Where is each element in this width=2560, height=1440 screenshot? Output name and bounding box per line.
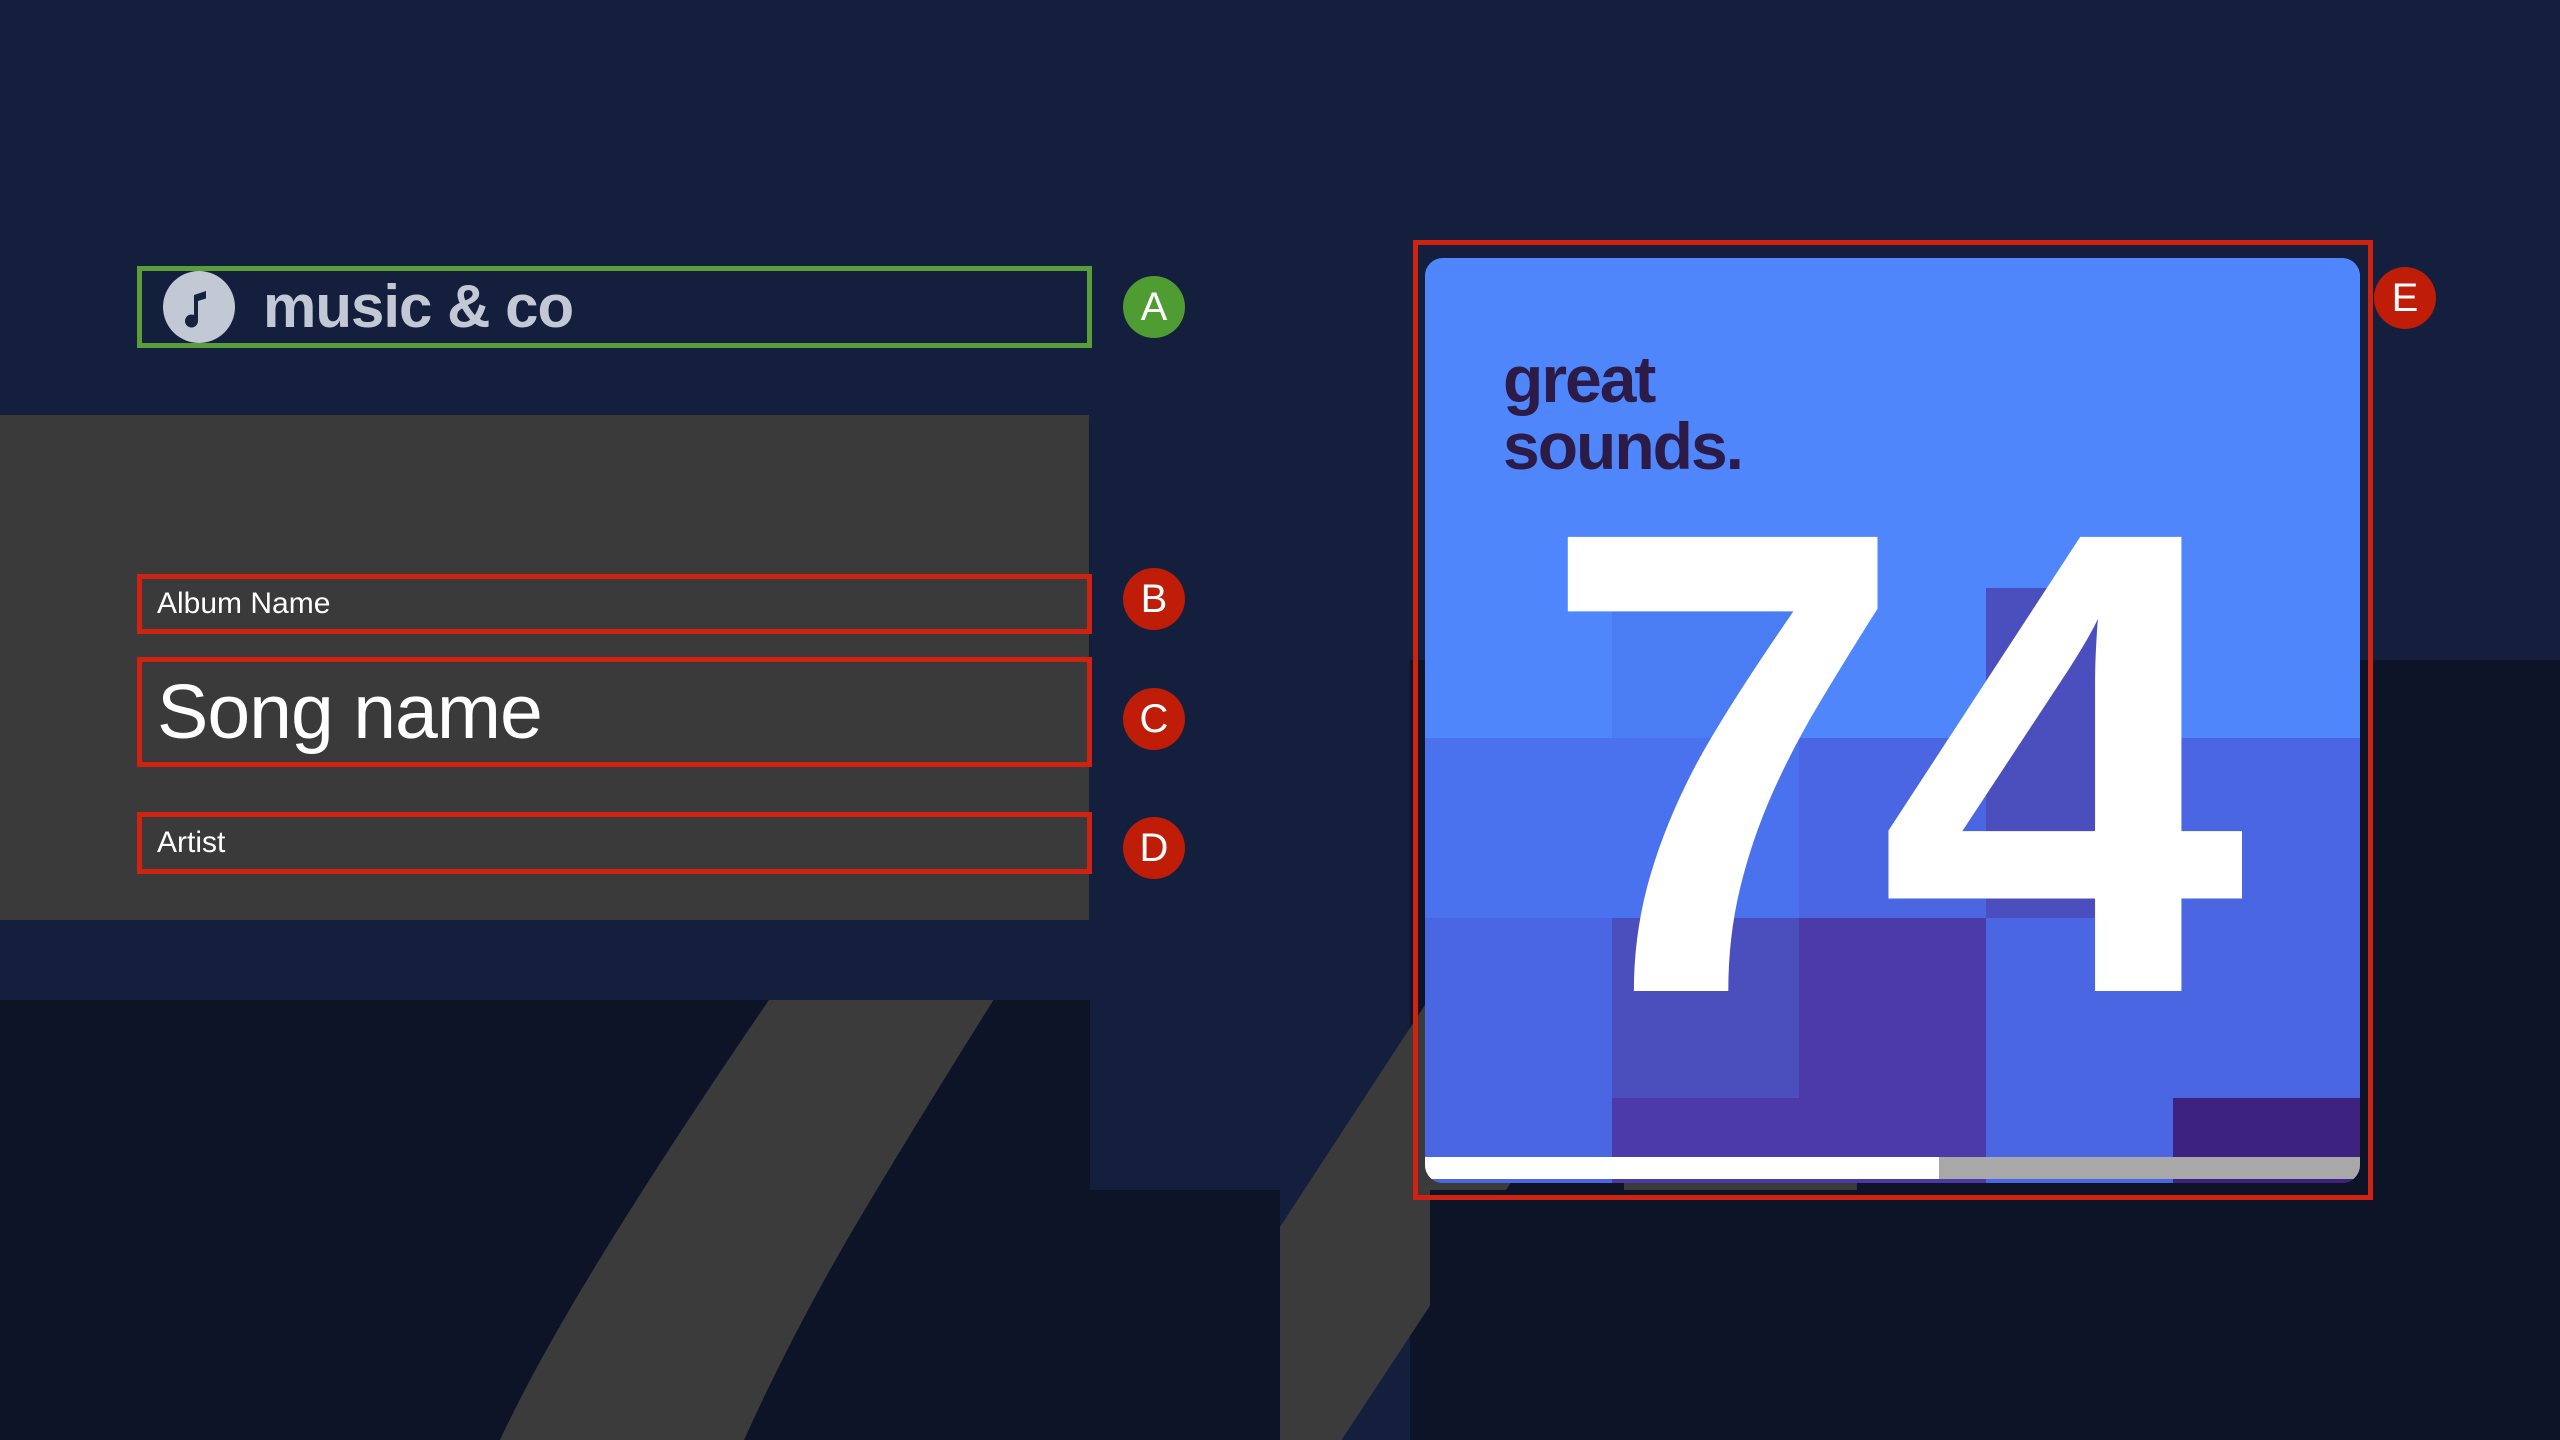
annotation-badge-d: D (1123, 817, 1185, 879)
annotation-badge-e: E (2374, 267, 2436, 329)
annotation-badge-b: B (1123, 568, 1185, 630)
playback-progress-bar[interactable] (1425, 1157, 2360, 1179)
song-name-field[interactable]: Song name (137, 657, 1092, 767)
brand-name: music & co (263, 277, 573, 337)
album-art-canvas: great sounds. 74 (1425, 258, 2360, 1183)
annotation-badge-a: A (1123, 276, 1185, 338)
annotation-badge-c: C (1123, 688, 1185, 750)
player-content: music & co Album Name Song name Artist (0, 0, 2560, 1440)
album-name-field[interactable]: Album Name (137, 574, 1092, 634)
music-note-circle-icon (163, 271, 235, 343)
playback-progress-fill (1425, 1157, 1939, 1179)
album-art-big-number: 74 (1425, 433, 2346, 1093)
artist-field[interactable]: Artist (137, 812, 1092, 874)
brand-header[interactable]: music & co (137, 266, 1092, 348)
album-art[interactable]: great sounds. 74 (1425, 258, 2360, 1183)
